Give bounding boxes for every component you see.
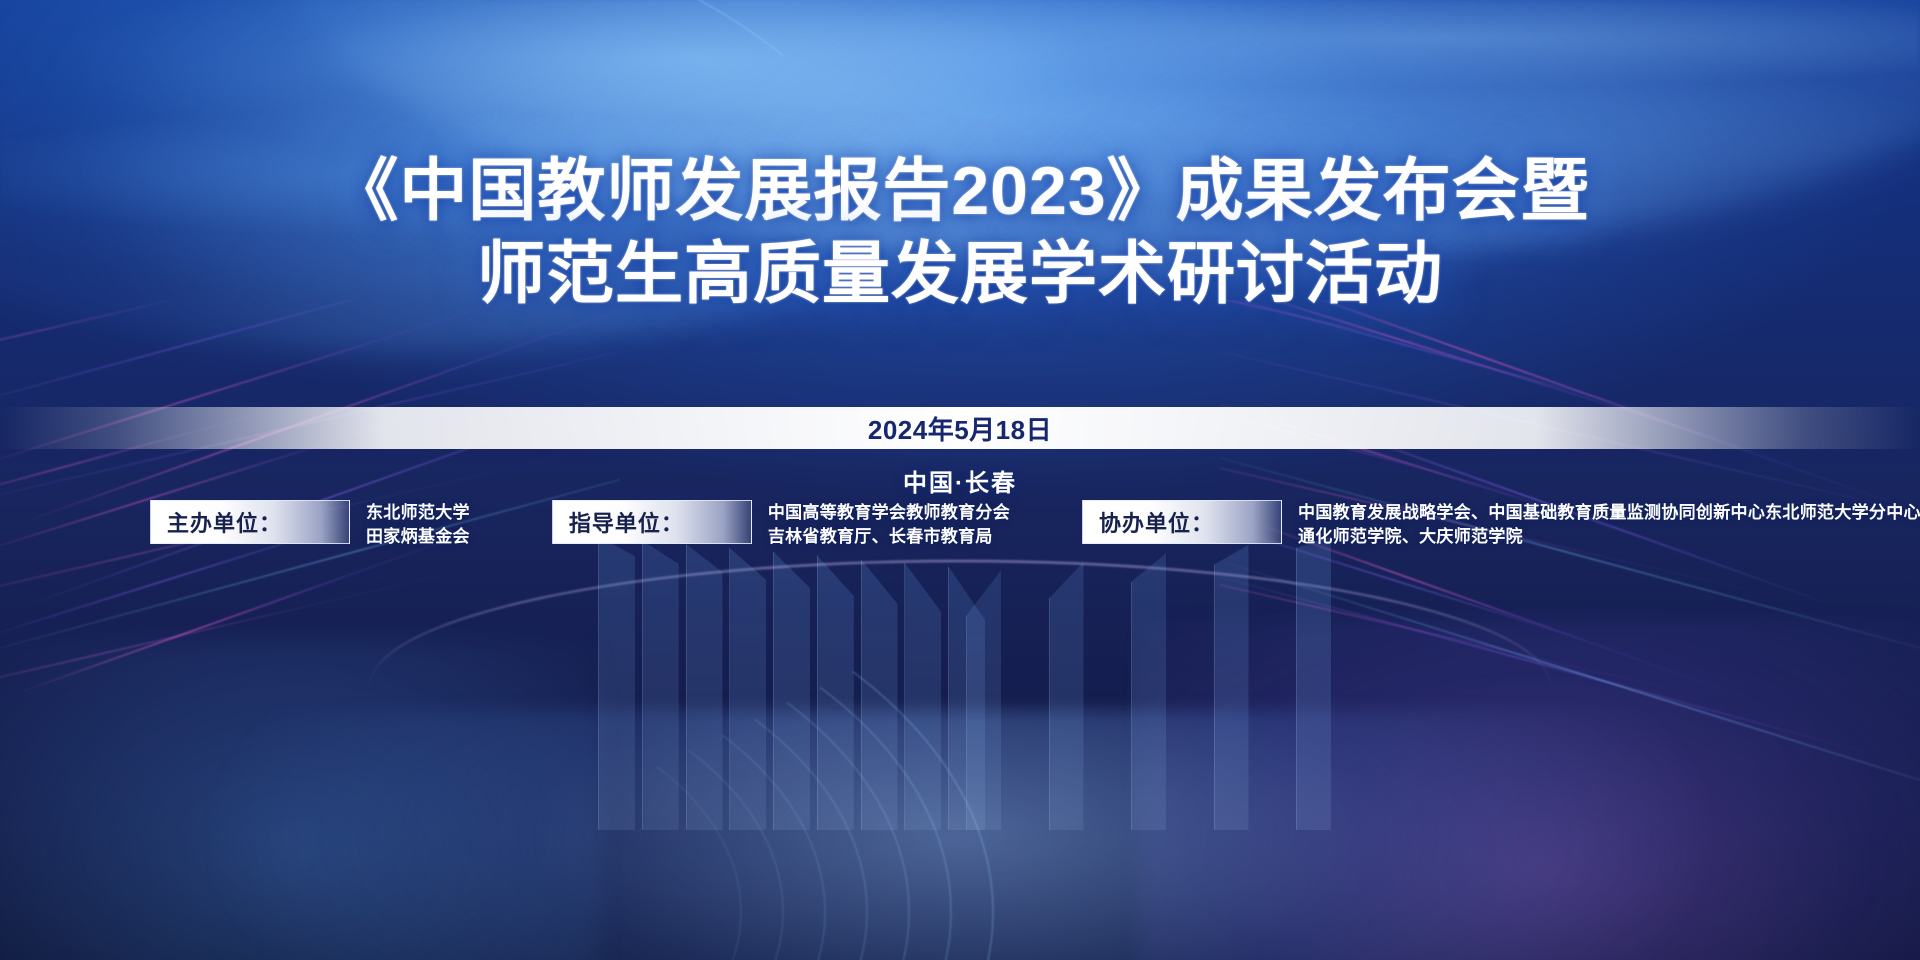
organizer-group-coorganizer: 协办单位： 中国教育发展战略学会、中国基础教育质量监测协同创新中心东北师范大学分…: [1082, 500, 1920, 549]
organizer-label-coorganizer: 协办单位：: [1099, 506, 1214, 538]
page-title: 《中国教师发展报告2023》成果发布会暨 师范生高质量发展学术研讨活动: [0, 150, 1920, 316]
organizer-text-guide: 中国高等教育学会教师教育分会 吉林省教育厅、长春市教育局: [768, 500, 1010, 549]
organizer-text-coorganizer: 中国教育发展战略学会、中国基础教育质量监测协同创新中心东北师范大学分中心 通化师…: [1298, 500, 1920, 549]
organizer-text-host: 东北师范大学 田家炳基金会: [366, 500, 470, 549]
organizer-label-guide: 指导单位：: [569, 506, 684, 538]
event-date: 2024年5月18日: [0, 410, 1920, 447]
organizer-label-host: 主办单位：: [167, 506, 282, 538]
organizer-entry: 田家炳基金会: [366, 525, 470, 549]
organizer-entry: 通化师范学院、大庆师范学院: [1298, 525, 1920, 549]
conference-banner: 《中国教师发展报告2023》成果发布会暨 师范生高质量发展学术研讨活动 2024…: [0, 0, 1920, 960]
floor-horizon-line: [370, 560, 1550, 812]
organizer-entry: 东北师范大学: [366, 501, 470, 525]
organizer-group-guide: 指导单位： 中国高等教育学会教师教育分会 吉林省教育厅、长春市教育局: [552, 500, 1010, 549]
title-line-1: 《中国教师发展报告2023》成果发布会暨: [0, 150, 1920, 233]
title-line-2: 师范生高质量发展学术研讨活动: [0, 233, 1920, 316]
organizer-chip-host: 主办单位：: [150, 500, 350, 544]
organizer-entry: 中国教育发展战略学会、中国基础教育质量监测协同创新中心东北师范大学分中心: [1298, 501, 1920, 525]
event-location: 中国·长春: [0, 463, 1920, 498]
organizer-chip-guide: 指导单位：: [552, 500, 752, 544]
organizer-entry: 吉林省教育厅、长春市教育局: [768, 525, 1010, 549]
accent-streak: [0, 300, 441, 415]
organizer-group-host: 主办单位： 东北师范大学 田家炳基金会: [150, 500, 470, 549]
organizer-chip-coorganizer: 协办单位：: [1082, 500, 1282, 544]
organizer-entry: 中国高等教育学会教师教育分会: [768, 501, 1010, 525]
organizer-list: 主办单位： 东北师范大学 田家炳基金会 指导单位： 中国高等教育学会教师教育分会…: [150, 500, 1870, 549]
